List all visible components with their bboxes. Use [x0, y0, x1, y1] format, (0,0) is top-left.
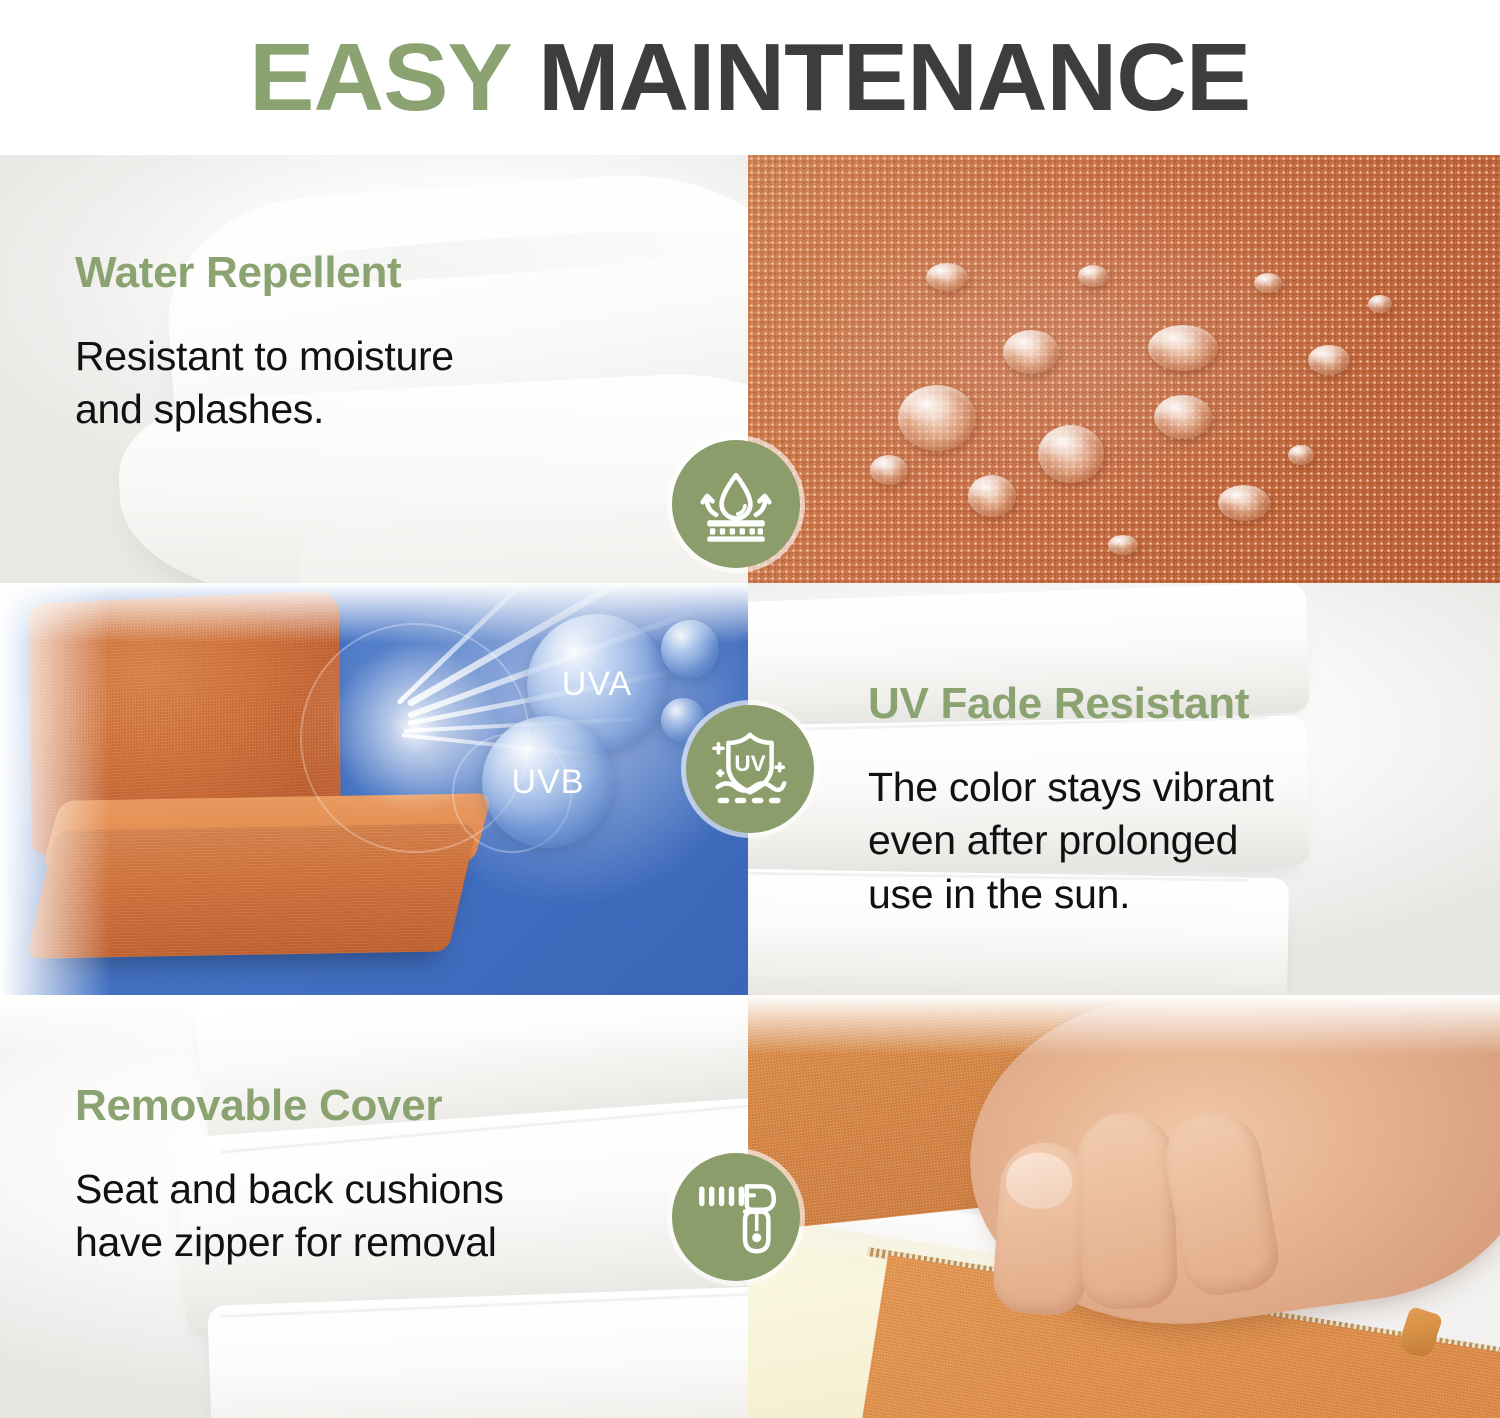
- page-title: EASY MAINTENANCE: [0, 0, 1500, 155]
- water-droplet-photo-half: [748, 155, 1500, 583]
- water-repellent-body-line-1: Resistant to moisture: [75, 330, 635, 383]
- title-word-maintenance: MAINTENANCE: [538, 24, 1250, 131]
- removable-cover-body-line-1: Seat and back cushions: [75, 1163, 675, 1216]
- orange-fabric-photo: [748, 155, 1500, 583]
- uv-fade-panel: UV Fade Resistant The color stays vibran…: [868, 681, 1428, 921]
- title-word-easy: EASY: [249, 24, 512, 131]
- water-drop-shield-glyph: [691, 459, 781, 549]
- water-droplet: [1308, 345, 1350, 375]
- water-droplet: [898, 385, 976, 451]
- water-droplet: [1078, 265, 1108, 287]
- uvb-bubble-label: UVB: [512, 763, 585, 802]
- uv-fade-text-half: UV Fade Resistant The color stays vibran…: [748, 583, 1500, 995]
- finger: [1076, 1111, 1179, 1310]
- zipper-icon: [672, 1153, 800, 1281]
- uv-shield-glyph: UV: [705, 724, 795, 814]
- uv-shield-icon: UV: [686, 705, 814, 833]
- uv-bubble-small: [661, 620, 719, 678]
- water-droplet: [1108, 535, 1138, 555]
- water-droplet: [1003, 330, 1059, 374]
- removable-cover-panel: Removable Cover Seat and back cushions h…: [75, 1083, 675, 1270]
- water-repellent-body-line-2: and splashes.: [75, 383, 635, 436]
- water-droplet: [1368, 295, 1392, 313]
- uv-fade-body-line-2: even after prolonged: [868, 814, 1428, 867]
- uv-fade-body-line-3: use in the sun.: [868, 868, 1428, 921]
- feature-band-removable-cover: Removable Cover Seat and back cushions h…: [0, 995, 1500, 1418]
- uv-fade-body-line-1: The color stays vibrant: [868, 761, 1428, 814]
- zipper-photo: [748, 995, 1500, 1418]
- hand-pulling-zipper: [950, 995, 1500, 1352]
- water-repellent-icon: [672, 440, 800, 568]
- water-repellent-heading: Water Repellent: [75, 250, 635, 296]
- removable-cover-heading: Removable Cover: [75, 1083, 675, 1129]
- zipper-glyph: [691, 1172, 781, 1262]
- water-droplet: [1254, 273, 1282, 293]
- uvb-bubble: UVB: [482, 716, 614, 848]
- water-droplet: [1154, 395, 1212, 439]
- uva-bubble-label: UVA: [562, 665, 632, 704]
- feature-band-water-repellent: Water Repellent Resistant to moisture an…: [0, 155, 1500, 583]
- feature-band-uv-fade-resistant: UVA UVB UV Fade Resistant The color stay…: [0, 583, 1500, 995]
- water-droplet: [1148, 325, 1218, 371]
- svg-text:UV: UV: [734, 751, 765, 776]
- water-droplet: [1218, 485, 1270, 521]
- water-droplet: [870, 455, 908, 485]
- title-text: EASY MAINTENANCE: [249, 30, 1250, 126]
- water-droplet: [926, 263, 968, 291]
- water-droplet: [1038, 425, 1104, 483]
- removable-cover-text-half: Removable Cover Seat and back cushions h…: [0, 995, 748, 1418]
- uv-blue-background: UVA UVB: [0, 583, 748, 995]
- uv-fade-heading: UV Fade Resistant: [868, 681, 1428, 727]
- water-repellent-panel: Water Repellent Resistant to moisture an…: [75, 250, 635, 437]
- water-repellent-text-half: Water Repellent Resistant to moisture an…: [0, 155, 748, 583]
- removable-cover-body-line-2: have zipper for removal: [75, 1216, 675, 1269]
- water-droplet: [968, 475, 1016, 517]
- uv-scene-half: UVA UVB: [0, 583, 748, 995]
- zipper-photo-half: [748, 995, 1500, 1418]
- water-droplet: [1288, 445, 1314, 465]
